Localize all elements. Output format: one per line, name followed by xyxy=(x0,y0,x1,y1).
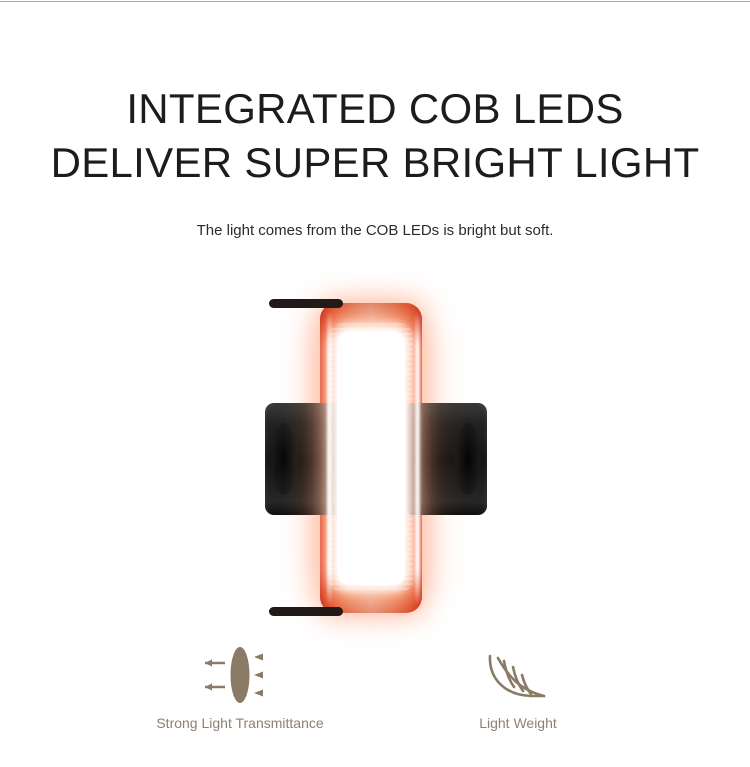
headline-line-2: DELIVER SUPER BRIGHT LIGHT xyxy=(0,136,750,190)
feature-light-weight: Light Weight xyxy=(388,636,648,732)
bracket-notch-right xyxy=(455,423,481,495)
headline-line-1: INTEGRATED COB LEDS xyxy=(126,85,623,132)
page-title: INTEGRATED COB LEDS DELIVER SUPER BRIGHT… xyxy=(0,82,750,190)
cob-led-light-bar xyxy=(337,331,405,585)
lens-edge-highlight-left xyxy=(327,311,332,605)
lens-edge-highlight-right xyxy=(415,311,420,605)
feather-icon xyxy=(388,636,648,714)
product-image-bike-tail-light xyxy=(255,285,495,630)
housing-end-cap-bottom xyxy=(269,607,343,616)
feature-label: Light Weight xyxy=(388,714,648,732)
page-subtitle: The light comes from the COB LEDs is bri… xyxy=(0,220,750,242)
feature-strong-light-transmittance: Strong Light Transmittance xyxy=(110,636,370,732)
light-transmittance-icon-svg xyxy=(192,644,288,706)
feature-label: Strong Light Transmittance xyxy=(110,714,370,732)
feather-icon-svg xyxy=(482,644,554,706)
product-hero-stage xyxy=(0,285,750,630)
bracket-rib-right xyxy=(421,413,423,505)
bracket-notch-left xyxy=(271,423,297,495)
top-divider xyxy=(0,1,750,2)
mounting-bracket-left xyxy=(265,403,345,515)
product-feature-banner: INTEGRATED COB LEDS DELIVER SUPER BRIGHT… xyxy=(0,0,750,767)
housing-end-cap-top xyxy=(269,299,343,308)
feature-row: Strong Light Transmittance Light Weight xyxy=(0,636,750,756)
light-transmittance-icon xyxy=(110,636,370,714)
